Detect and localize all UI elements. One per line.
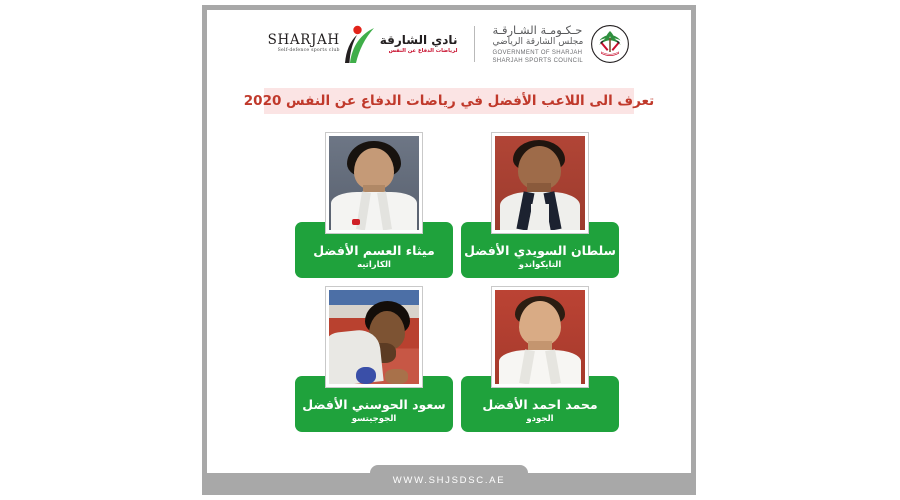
government-arabic-line1: حـكـومـة الشـارقـة — [492, 23, 582, 37]
poster-title-banner: تعرف الى اللاعب الأفضل في رياضات الدفاع … — [264, 88, 634, 114]
athlete-card[interactable]: ميثاء العسم الأفضل الكاراتيه — [295, 132, 453, 280]
athlete-sport: التايكواندو — [519, 260, 562, 270]
website-url: WWW.SHJSDSC.AE — [393, 475, 505, 486]
footer-bar: WWW.SHJSDSC.AE — [207, 473, 691, 495]
club-logo-arabic-tagline: لرياضات الدفاع عن النفس — [389, 48, 458, 54]
athlete-name: سلطان السويدي الأفضل — [464, 244, 616, 258]
club-logo-english-tagline: Self-defence sports club — [278, 49, 340, 54]
header-divider — [474, 26, 475, 62]
club-logo-english: SHARJAH Self-defence sports club — [268, 34, 340, 54]
athlete-photo-frame — [325, 132, 423, 234]
club-logo-arabic-name: نادي الشارقة — [380, 34, 458, 48]
athlete-card[interactable]: سلطان السويدي الأفضل التايكواندو — [461, 132, 619, 280]
government-logo-text: حـكـومـة الشـارقـة مجلس الشارقة الرياضي … — [492, 23, 583, 66]
athlete-name: ميثاء العسم الأفضل — [313, 244, 435, 258]
athlete-photo-jiujitsu — [329, 290, 419, 384]
athlete-name: سعود الحوسني الأفضل — [302, 398, 445, 412]
swoosh-logo-icon — [343, 24, 377, 64]
footer-url-tab[interactable]: WWW.SHJSDSC.AE — [370, 465, 528, 495]
athlete-sport: الكاراتيه — [357, 260, 391, 270]
athlete-photo-frame — [491, 286, 589, 388]
athlete-photo-frame — [491, 132, 589, 234]
government-english-line2: SHARJAH SPORTS COUNCIL — [492, 58, 583, 66]
government-arabic-line2: مجلس الشارقة الرياضي — [492, 37, 583, 48]
sharjah-emblem-icon — [590, 24, 630, 64]
athlete-photo-frame — [325, 286, 423, 388]
athlete-card[interactable]: سعود الحوسني الأفضل الجوجيتسو — [295, 286, 453, 434]
athlete-name: محمد احمد الأفضل — [482, 398, 597, 412]
athlete-grid: سلطان السويدي الأفضل التايكواندو — [279, 132, 619, 442]
athlete-photo-karate — [329, 136, 419, 230]
poster-frame: SHARJAH Self-defence sports club نادي ال… — [202, 5, 696, 495]
club-logo-arabic: نادي الشارقة لرياضات الدفاع عن النفس — [380, 34, 458, 55]
poster-canvas: SHARJAH Self-defence sports club نادي ال… — [0, 0, 900, 500]
page-title: تعرف الى اللاعب الأفضل في رياضات الدفاع … — [244, 93, 654, 109]
government-logo: حـكـومـة الشـارقـة مجلس الشارقة الرياضي … — [492, 23, 630, 66]
club-logo: SHARJAH Self-defence sports club نادي ال… — [268, 24, 458, 64]
club-logo-english-name: SHARJAH — [268, 34, 340, 48]
athlete-photo-judo — [495, 290, 585, 384]
government-english-line1: GOVERNMENT OF SHARJAH — [492, 50, 582, 58]
athlete-card[interactable]: محمد احمد الأفضل الجودو — [461, 286, 619, 434]
athlete-sport: الجوجيتسو — [352, 414, 397, 424]
poster-content: SHARJAH Self-defence sports club نادي ال… — [207, 10, 691, 495]
athlete-sport: الجودو — [526, 414, 553, 424]
poster-header: SHARJAH Self-defence sports club نادي ال… — [207, 10, 691, 78]
athlete-photo-taekwondo — [495, 136, 585, 230]
